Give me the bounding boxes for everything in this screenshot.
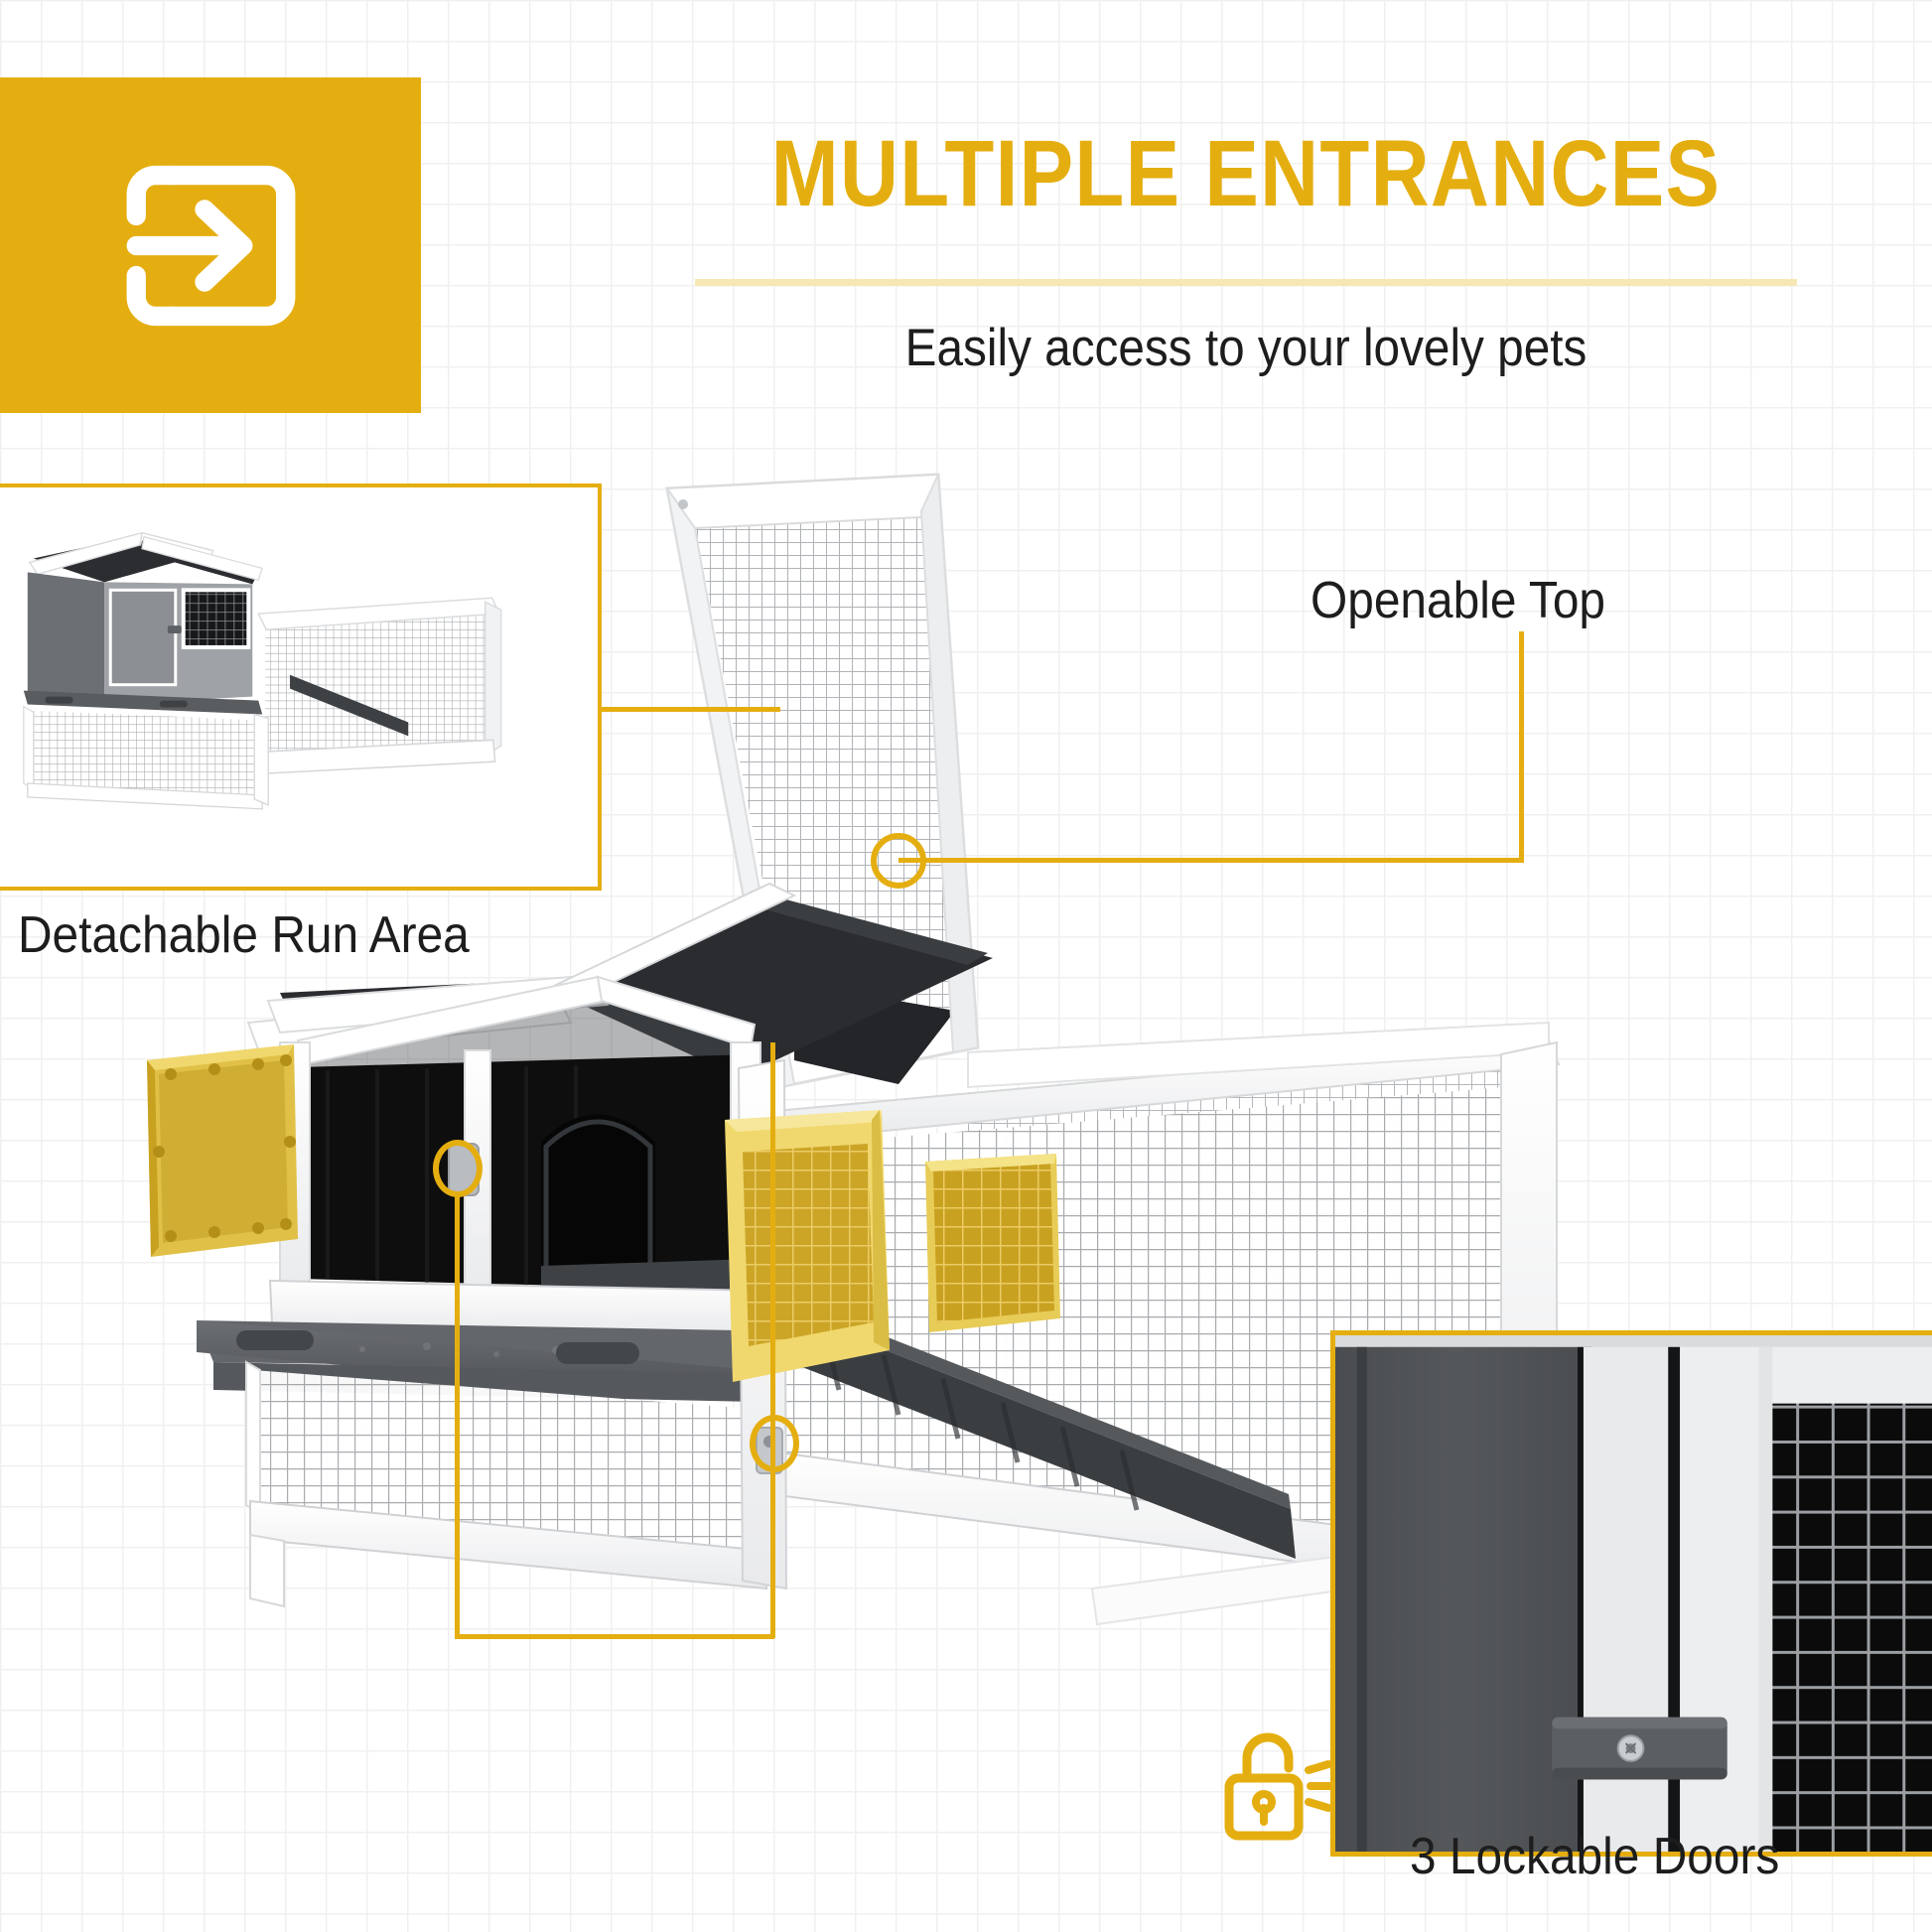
connector-lockable-vertical-right <box>770 1042 775 1638</box>
unlocked-padlock-icon <box>1219 1723 1338 1850</box>
connector-lockable-vertical-left <box>455 1191 460 1638</box>
detachable-run-area-thumbnail-box <box>0 483 602 891</box>
lockable-doors-label: 3 Lockable Doors <box>1410 1827 1779 1886</box>
callout-marker-openable-top <box>871 833 926 889</box>
detachable-run-area-label: Detachable Run Area <box>18 905 470 965</box>
openable-top-label: Openable Top <box>1311 571 1605 630</box>
enter-arrow-icon-badge <box>0 77 421 413</box>
callout-marker-door-latch-upper <box>433 1140 483 1197</box>
thumbnail-product-illustration <box>0 487 598 892</box>
page-subtitle: Easily access to your lovely pets <box>679 318 1814 378</box>
callout-marker-door-latch-lower <box>750 1415 799 1472</box>
door-latch-detail-inset <box>1330 1330 1932 1857</box>
connector-openable-horizontal <box>898 858 1524 863</box>
title-divider <box>695 279 1797 286</box>
latch-detail-illustration <box>1335 1335 1932 1852</box>
connector-thumbnail-to-openable <box>602 707 780 712</box>
page-title: MULTIPLE ENTRANCES <box>704 127 1788 221</box>
enter-arrow-icon <box>104 139 318 352</box>
connector-lockable-horizontal <box>455 1634 774 1639</box>
connector-openable-vertical <box>1519 631 1524 862</box>
